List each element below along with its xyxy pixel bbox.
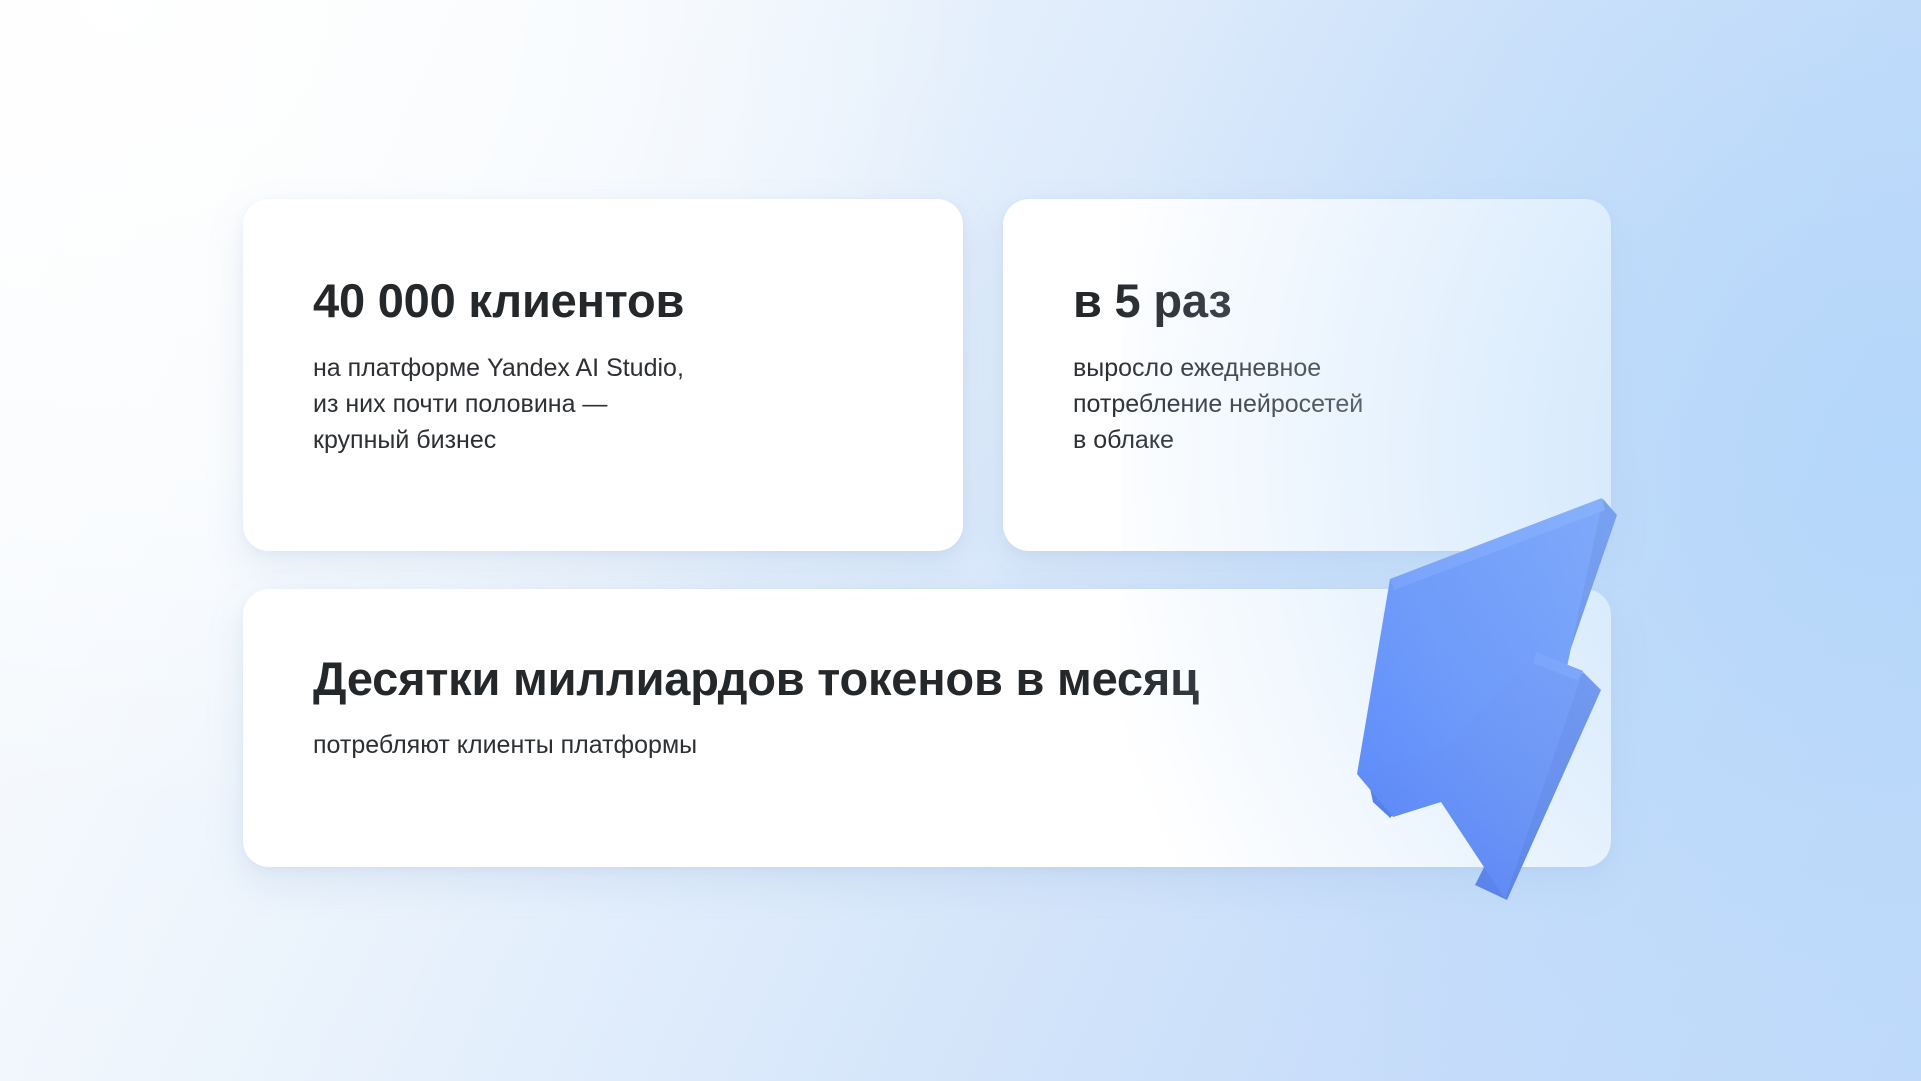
promo-stats-slide: 40 000 клиентов на платформе Yandex AI S… [0, 0, 1921, 1081]
stat-card-clients-title: 40 000 клиентов [313, 273, 684, 329]
stat-card-tokens-description: потребляют клиенты платформы [313, 727, 1199, 763]
stat-card-tokens: Десятки миллиардов токенов в месяц потре… [243, 589, 1611, 867]
stat-card-tokens-description-line: потребляют клиенты платформы [313, 727, 1199, 763]
stat-card-tokens-body: Десятки миллиардов токенов в месяц потре… [313, 651, 1199, 763]
stat-card-growth-description-line: в облаке [1073, 422, 1363, 458]
stat-cards-layer: 40 000 клиентов на платформе Yandex AI S… [0, 0, 1921, 1081]
stat-card-growth-body: в 5 раз выросло ежедневное потребление н… [1073, 273, 1363, 458]
stat-card-tokens-title: Десятки миллиардов токенов в месяц [313, 651, 1199, 707]
stat-card-clients-description-line: на платформе Yandex AI Studio, [313, 350, 684, 386]
stat-card-clients-body: 40 000 клиентов на платформе Yandex AI S… [313, 273, 684, 458]
stat-card-clients: 40 000 клиентов на платформе Yandex AI S… [243, 199, 963, 551]
stat-card-growth: в 5 раз выросло ежедневное потребление н… [1003, 199, 1611, 551]
stat-card-growth-description-line: выросло ежедневное [1073, 350, 1363, 386]
stat-card-clients-description-line: крупный бизнес [313, 422, 684, 458]
stat-card-growth-description: выросло ежедневное потребление нейросете… [1073, 350, 1363, 458]
stat-card-clients-description-line: из них почти половина — [313, 386, 684, 422]
stat-card-growth-description-line: потребление нейросетей [1073, 386, 1363, 422]
stat-card-growth-title: в 5 раз [1073, 273, 1363, 329]
stat-card-clients-description: на платформе Yandex AI Studio, из них по… [313, 350, 684, 458]
